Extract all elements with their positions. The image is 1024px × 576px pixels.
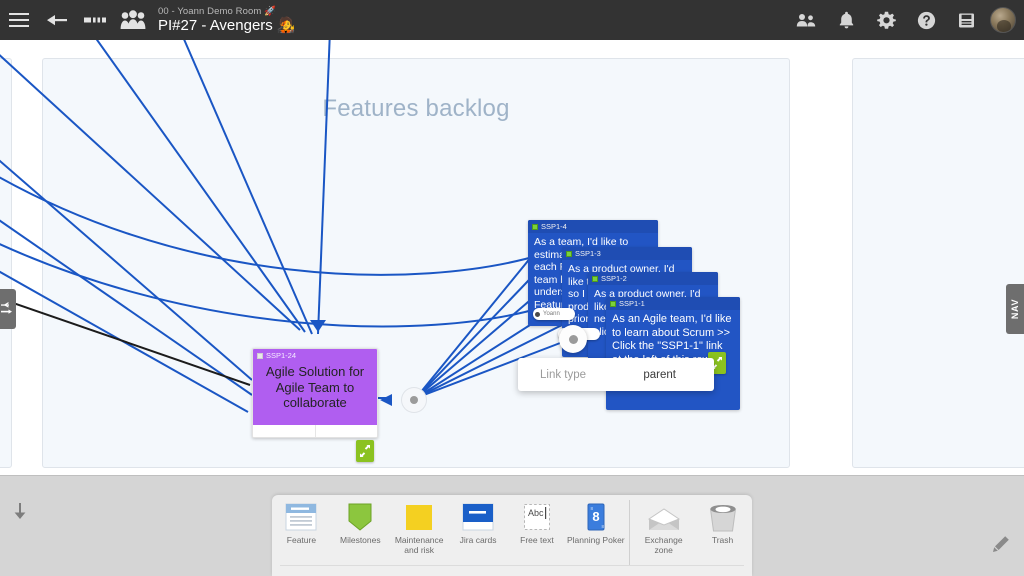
board-canvas[interactable]: Features backlog: [0, 40, 1024, 475]
card-id: SSP1-24: [266, 351, 296, 360]
save-icon[interactable]: [946, 0, 986, 40]
feature-card-icon: [284, 500, 318, 532]
avatar[interactable]: [990, 7, 1016, 33]
palette-item-label: Trash: [694, 535, 752, 545]
palette-item-jira-cards[interactable]: Jira cards: [449, 500, 508, 545]
pi-name-text: PI#27 - Avengers: [158, 18, 273, 34]
palette-item-free-text[interactable]: Abc Free text: [508, 500, 567, 545]
top-bar: 00 - Yoann Demo Room 🚀 PI#27 - Avengers …: [0, 0, 1024, 40]
layout-icon[interactable]: [76, 0, 114, 40]
palette-item-label: Maintenance and risk: [390, 535, 448, 555]
user-dot-icon: [535, 312, 540, 317]
palette-item-feature[interactable]: Feature: [272, 500, 331, 545]
svg-text:Abc: Abc: [528, 508, 544, 518]
collapse-left-panel-tab[interactable]: [0, 289, 16, 329]
palette-divider: [629, 500, 630, 566]
people-group-icon[interactable]: [114, 0, 152, 40]
feature-type-icon: [257, 353, 263, 359]
scroll-down-arrow-icon[interactable]: [8, 499, 32, 523]
card-header: SSP1-3: [562, 247, 692, 260]
room-name: 00 - Yoann Demo Room 🚀: [158, 7, 296, 17]
trash-icon: [709, 500, 737, 532]
card-header: SSP1-2: [588, 272, 718, 285]
topbar-actions: [786, 0, 1024, 40]
element-palette[interactable]: Feature Milestones Maintenance and risk: [272, 495, 752, 576]
palette-item-label: Feature: [272, 535, 330, 545]
pi-name: PI#27 - Avengers 🧑‍🎤: [158, 18, 296, 34]
card-footer: [253, 425, 377, 438]
nav-panel-tab[interactable]: NAV: [1006, 284, 1024, 334]
rocket-emoji-icon: 🚀: [264, 7, 276, 17]
edit-pencil-icon[interactable]: [990, 533, 1012, 555]
story-type-icon: [592, 276, 598, 282]
card-ssp1-24[interactable]: SSP1-24 Agile Solution for Agile Team to…: [252, 348, 378, 438]
story-type-icon: [532, 224, 538, 230]
palette-item-milestones[interactable]: Milestones: [331, 500, 390, 545]
room-name-text: 00 - Yoann Demo Room: [158, 7, 261, 17]
link-anchor-point[interactable]: [402, 388, 426, 412]
story-type-icon: [610, 301, 616, 307]
board-title-block[interactable]: 00 - Yoann Demo Room 🚀 PI#27 - Avengers …: [158, 7, 296, 34]
planning-poker-icon: 8 8 8: [584, 500, 608, 532]
card-id: SSP1-4: [541, 222, 567, 231]
palette-item-label: Jira cards: [449, 535, 507, 545]
jira-card-icon: [461, 500, 495, 532]
card-text: Agile Solution for Agile Team to collabo…: [253, 362, 377, 425]
bottom-bar: Feature Milestones Maintenance and risk: [0, 475, 1024, 576]
bottom-bar-divider: [0, 475, 1024, 476]
free-text-icon: Abc: [522, 500, 552, 532]
connector-links: [0, 40, 1024, 475]
maintenance-note-icon: [404, 500, 434, 532]
hamburger-menu-icon[interactable]: [0, 0, 38, 40]
story-type-icon: [566, 251, 572, 257]
link-badge-ssp1-24[interactable]: [356, 440, 374, 462]
users-icon[interactable]: [786, 0, 826, 40]
gear-icon[interactable]: [866, 0, 906, 40]
card-footer-right: [316, 425, 378, 438]
palette-item-planning-poker[interactable]: 8 8 8 Planning Poker: [566, 500, 625, 545]
palette-item-trash[interactable]: Trash: [693, 500, 752, 545]
user-chip-label: Yoann: [543, 311, 560, 317]
drag-handle[interactable]: [559, 325, 587, 353]
person-emoji-icon: 🧑‍🎤: [277, 18, 296, 34]
palette-item-label: Milestones: [331, 535, 389, 545]
card-id: SSP1-2: [601, 274, 627, 283]
svg-text:8: 8: [592, 509, 599, 524]
card-id: SSP1-3: [575, 249, 601, 258]
back-arrow-icon[interactable]: [38, 0, 76, 40]
link-type-popup[interactable]: Link type parent: [518, 358, 714, 391]
user-chip-yoann[interactable]: Yoann: [533, 308, 575, 320]
help-icon[interactable]: [906, 0, 946, 40]
card-id: SSP1-1: [619, 299, 645, 308]
nav-panel-label: NAV: [1010, 299, 1020, 319]
palette-item-label: Exchange zone: [635, 535, 693, 555]
bell-icon[interactable]: [826, 0, 866, 40]
card-header: SSP1-24: [253, 349, 377, 362]
palette-item-label: Planning Poker: [567, 535, 625, 545]
card-header: SSP1-1: [606, 297, 740, 310]
card-header: SSP1-4: [528, 220, 658, 233]
milestone-shield-icon: [347, 500, 373, 532]
card-footer-left: [253, 425, 316, 438]
link-type-value[interactable]: parent: [643, 369, 714, 381]
palette-item-exchange-zone[interactable]: Exchange zone: [634, 500, 693, 555]
palette-item-maintenance-and-risk[interactable]: Maintenance and risk: [390, 500, 449, 555]
link-type-label: Link type: [518, 369, 586, 381]
exchange-zone-icon: [647, 500, 681, 532]
palette-item-label: Free text: [508, 535, 566, 545]
